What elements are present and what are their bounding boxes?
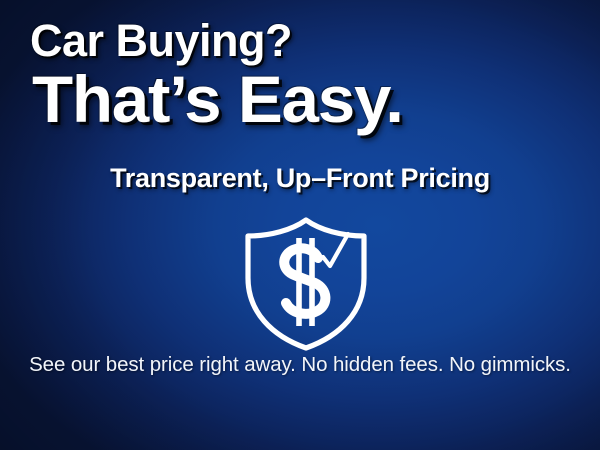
shield-dollar-check-icon	[240, 216, 372, 352]
dollar-s-curve	[284, 248, 325, 314]
headline-primary-line2: That’s Easy.	[32, 66, 403, 132]
headline-primary-line1: Car Buying?	[30, 18, 292, 63]
tagline: See our best price right away. No hidden…	[0, 353, 600, 377]
check-mark-icon	[323, 234, 348, 266]
promo-banner: Car Buying? That’s Easy. Transparent, Up…	[0, 0, 600, 450]
subheadline: Transparent, Up–Front Pricing	[0, 163, 600, 194]
